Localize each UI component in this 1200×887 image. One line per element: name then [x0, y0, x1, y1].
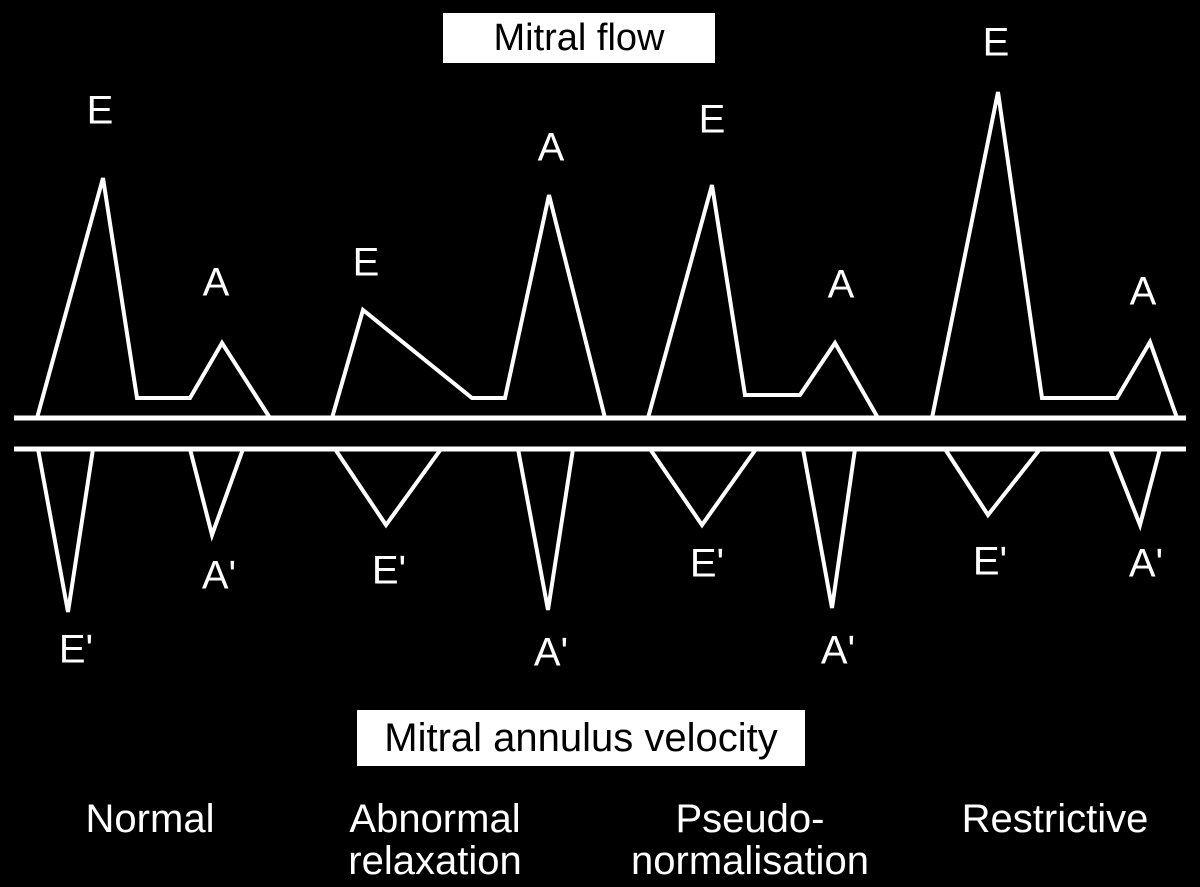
peak-label-abnormal-flow-a: A	[538, 126, 565, 170]
category-label-normal: Normal	[20, 798, 280, 840]
peak-label-abnormal-flow-e: E	[353, 241, 380, 285]
figure-canvas: EAE'A'EAE'A'EAE'A'EAE'A' Mitral flow Mit…	[0, 0, 1200, 887]
peak-label-normal-annulus-e: E'	[59, 628, 93, 672]
peak-label-normal-flow-a: A	[203, 261, 230, 305]
mitral-flow-title: Mitral flow	[443, 13, 715, 63]
peak-label-abnormal-annulus-a: A'	[534, 631, 568, 675]
peak-label-restrictive-annulus-e: E'	[973, 540, 1007, 584]
peak-label-abnormal-annulus-e: E'	[372, 549, 406, 593]
peak-label-restrictive-flow-e: E	[983, 21, 1010, 65]
peak-label-pseudo-annulus-e: E'	[690, 542, 724, 586]
mitral-annulus-velocity-title: Mitral annulus velocity	[357, 710, 805, 766]
peak-label-restrictive-flow-a: A	[1130, 270, 1157, 314]
peak-label-normal-flow-e: E	[87, 89, 114, 133]
peak-label-pseudo-flow-a: A	[828, 263, 855, 307]
peak-label-pseudo-flow-e: E	[699, 98, 726, 142]
peak-label-restrictive-annulus-a: A'	[1129, 542, 1163, 586]
category-label-pseudo-normalisation: Pseudo- normalisation	[600, 798, 900, 882]
category-label-restrictive: Restrictive	[920, 798, 1190, 840]
category-label-abnormal-relaxation: Abnormal relaxation	[305, 798, 565, 882]
peak-label-pseudo-annulus-a: A'	[821, 629, 855, 673]
peak-label-normal-annulus-a: A'	[202, 554, 236, 598]
